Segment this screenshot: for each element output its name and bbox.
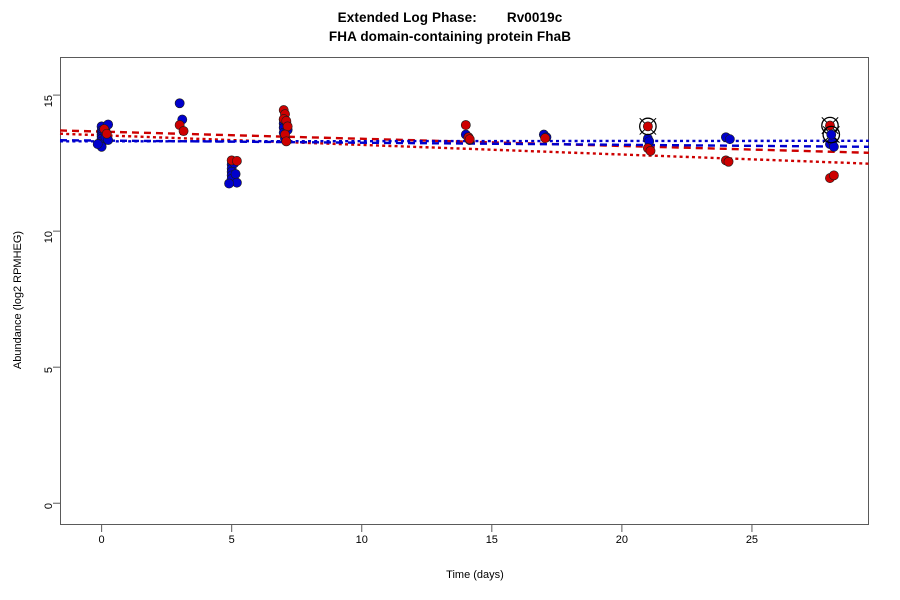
chart-title-block: Extended Log Phase:Rv0019c FHA domain-co… — [0, 8, 900, 46]
y-tick-label: 15 — [43, 95, 55, 107]
x-tick-label: 10 — [356, 534, 368, 546]
x-tick-label: 20 — [616, 534, 628, 546]
y-tick-label: 5 — [43, 367, 55, 373]
x-tick-label: 15 — [486, 534, 498, 546]
plot-area — [60, 57, 869, 525]
chart-title-line: Extended Log Phase:Rv0019c — [0, 8, 900, 27]
x-axis-label: Time (days) — [25, 569, 900, 581]
x-tick-label: 0 — [99, 534, 105, 546]
y-tick-label: 0 — [43, 503, 55, 509]
y-axis-label: Abundance (log2 RPMHEG) — [12, 200, 24, 400]
x-tick-label: 5 — [229, 534, 235, 546]
chart-title-gene: Rv0019c — [507, 10, 563, 25]
chart-subtitle: FHA domain-containing protein FhaB — [0, 27, 900, 46]
chart-title-main: Extended Log Phase: — [338, 10, 477, 25]
chart-figure: Extended Log Phase:Rv0019c FHA domain-co… — [0, 0, 900, 600]
x-tick-label: 25 — [746, 534, 758, 546]
y-tick-label: 10 — [43, 231, 55, 243]
